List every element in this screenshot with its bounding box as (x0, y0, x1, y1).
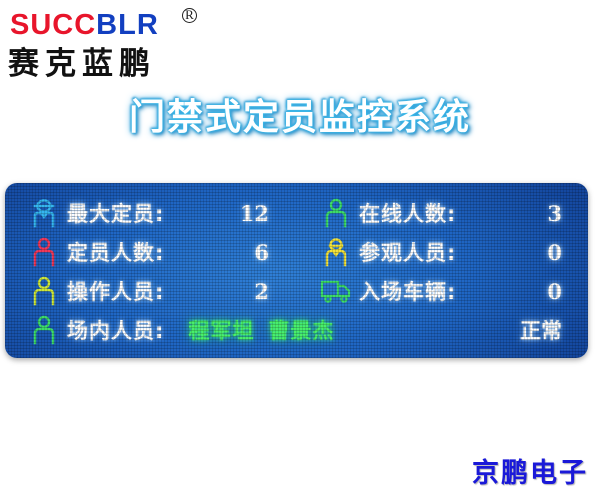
logo-wordmark: SUCCBLR (10, 10, 159, 40)
led-display-panel: 最大定员: 12 在线人数: 3 (5, 183, 588, 358)
led-row: 定员人数: 6 参观人员: 0 (5, 233, 588, 272)
field-max-capacity: 最大定员: 12 (5, 197, 297, 229)
onsite-name-1: 程军坦 (188, 315, 254, 345)
status-badge: 正常 (520, 315, 562, 345)
label-vehicle-count: 入场车辆: (359, 276, 456, 306)
logo-wordmark-part2: BLR (96, 9, 159, 41)
person-red-icon (27, 236, 61, 268)
footer-company-name: 京鹏电子 (472, 451, 588, 490)
worker-helmet-person-icon (27, 197, 61, 229)
value-operator-count: 2 (254, 279, 269, 304)
logo-chinese-name: 赛克蓝鹏 (8, 38, 156, 83)
page-title: 门禁式定员监控系统 (0, 88, 600, 140)
person-green-icon (27, 314, 61, 346)
operator-yellowgreen-person-icon (27, 275, 61, 307)
label-onsite-personnel: 场内人员: (67, 315, 164, 345)
label-quota-count: 定员人数: (67, 237, 164, 267)
field-online-count: 在线人数: 3 (297, 197, 588, 229)
value-vehicle-count: 0 (547, 279, 562, 304)
led-row: 最大定员: 12 在线人数: 3 (5, 194, 588, 233)
field-vehicle-count: 入场车辆: 0 (297, 275, 588, 307)
label-operator-count: 操作人员: (67, 276, 164, 306)
value-quota-count: 6 (254, 240, 269, 265)
company-logo: SUCCBLR R 赛克蓝鹏 (8, 6, 228, 76)
label-online-count: 在线人数: (359, 198, 456, 228)
onsite-name-2: 曹景杰 (268, 315, 334, 345)
registered-trademark-icon: R (182, 8, 197, 23)
field-quota-count: 定员人数: 6 (5, 236, 297, 268)
value-visitor-count: 0 (547, 240, 562, 265)
person-green-icon (319, 197, 353, 229)
value-max-capacity: 12 (240, 201, 269, 226)
logo-wordmark-part1: SUCC (10, 9, 96, 41)
label-max-capacity: 最大定员: (67, 198, 164, 228)
visitor-yellow-person-icon (319, 236, 353, 268)
led-row: 操作人员: 2 入场车辆: 0 (5, 272, 588, 311)
value-online-count: 3 (547, 201, 562, 226)
led-row-onsite: 场内人员: 程军坦 曹景杰 正常 (5, 311, 588, 350)
field-visitor-count: 参观人员: 0 (297, 236, 588, 268)
truck-green-icon (319, 275, 353, 307)
label-visitor-count: 参观人员: (359, 237, 456, 267)
field-operator-count: 操作人员: 2 (5, 275, 297, 307)
